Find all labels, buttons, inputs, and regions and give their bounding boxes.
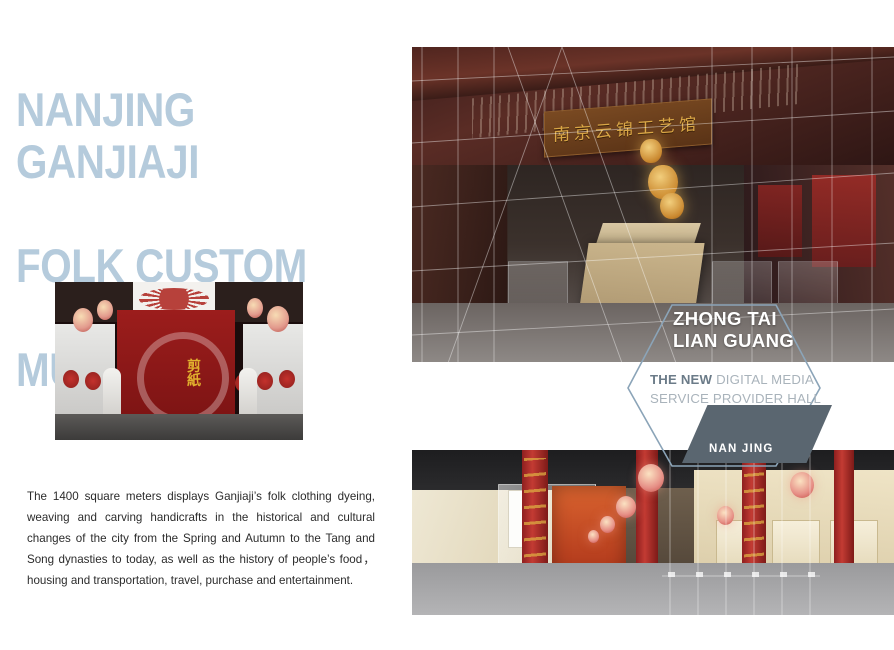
photo-papercut-hall: 剪紙 (55, 282, 303, 440)
page-title-line-1: NANJING GANJIAJI (16, 84, 343, 188)
photo-museum-corridor (412, 450, 894, 615)
badge-title: ZHONG TAI LIAN GUANG (673, 308, 794, 352)
badge-subtitle: THE NEW DIGITAL MEDIA SERVICE PROVIDER H… (650, 370, 828, 408)
badge-location-tag: NAN JING (682, 405, 832, 463)
brand-hexagon-badge: ZHONG TAI LIAN GUANG THE NEW DIGITAL MED… (624, 300, 824, 472)
badge-location-tag-label: NAN JING (709, 443, 774, 455)
museum-sign-text: 南京云锦工艺馆 (553, 109, 703, 146)
photo-papercut-hall-art: 剪紙 (55, 282, 303, 440)
badge-subtitle-strong: THE NEW (650, 372, 712, 387)
description-paragraph: The 1400 square meters displays Ganjiaji… (27, 486, 375, 591)
